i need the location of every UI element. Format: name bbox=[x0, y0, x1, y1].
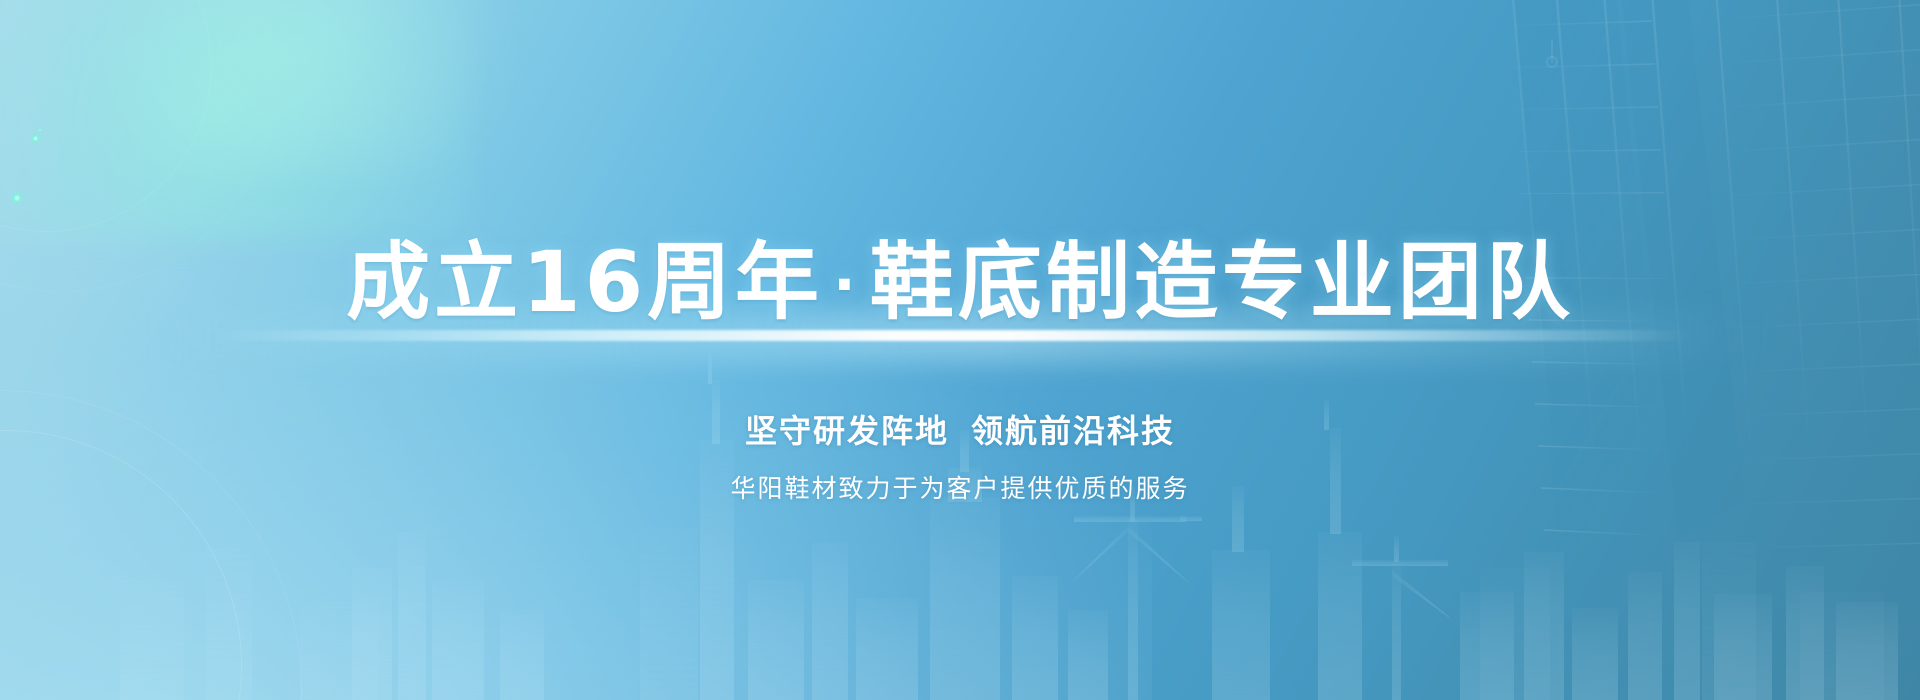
light-particle bbox=[38, 128, 42, 132]
subtitle-primary-left: 坚守研发阵地 bbox=[745, 412, 949, 450]
horizontal-light-beam bbox=[210, 330, 1690, 341]
teal-glow bbox=[0, 0, 470, 240]
lens-flare-ring bbox=[0, 390, 302, 700]
hero-banner: 成立16周年·鞋底制造专业团队 坚守研发阵地领航前沿科技 华阳鞋材致力于为客户提… bbox=[0, 0, 1920, 700]
glass-skyscraper-facade bbox=[1200, 0, 1920, 580]
banner-subtitle-secondary: 华阳鞋材致力于为客户提供优质的服务 bbox=[730, 473, 1189, 506]
banner-headline: 成立16周年·鞋底制造专业团队 bbox=[346, 235, 1574, 329]
lens-flare-ring bbox=[0, 430, 242, 700]
bottom-left-light-wash bbox=[0, 245, 1152, 700]
subtitle-primary-right: 领航前沿科技 bbox=[971, 412, 1175, 450]
headline-separator-dot: · bbox=[823, 252, 870, 319]
lens-flare-ring bbox=[0, 0, 212, 232]
banner-subtitle-primary: 坚守研发阵地领航前沿科技 bbox=[745, 411, 1175, 453]
headline-part-2: 鞋底制造专业团队 bbox=[870, 233, 1574, 331]
light-particle bbox=[31, 134, 40, 143]
lens-flare-ring bbox=[0, 0, 277, 292]
light-particle bbox=[11, 192, 23, 204]
banner-content: 成立16周年·鞋底制造专业团队 坚守研发阵地领航前沿科技 华阳鞋材致力于为客户提… bbox=[0, 0, 1920, 700]
headline-part-1: 成立16周年 bbox=[346, 233, 823, 331]
teal-glow-secondary bbox=[95, 0, 515, 170]
city-skyline-silhouette bbox=[0, 280, 1920, 700]
light-beam-halo bbox=[150, 310, 1760, 362]
